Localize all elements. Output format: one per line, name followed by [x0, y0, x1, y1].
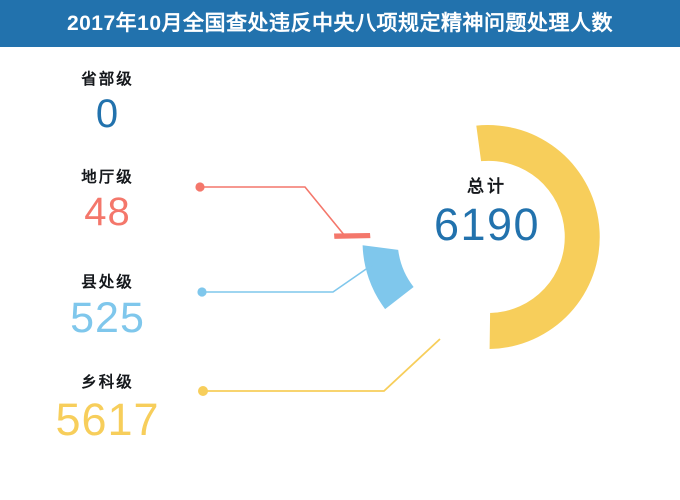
legend-value-provincial: 0 — [0, 94, 215, 134]
legend-list: 省部级 0 地厅级 48 县处级 525 乡科级 5617 — [0, 47, 215, 500]
donut-center-text: 总计 6190 — [407, 178, 567, 247]
legend-item-provincial: 省部级 0 — [0, 72, 215, 134]
donut-slice-county — [363, 245, 414, 309]
infographic-root: 2017年10月全国查处违反中央八项规定精神问题处理人数 省部级 0 地厅级 4… — [0, 0, 680, 500]
legend-item-township: 乡科级 5617 — [0, 375, 215, 442]
legend-label-county: 县处级 — [0, 275, 215, 291]
total-value: 6190 — [407, 202, 567, 247]
legend-label-township: 乡科级 — [0, 375, 215, 391]
leader-line-prefectural — [201, 187, 345, 236]
leader-line-township — [205, 339, 440, 391]
legend-value-county: 525 — [0, 297, 215, 340]
leader-line-county — [204, 265, 372, 292]
legend-item-county: 县处级 525 — [0, 275, 215, 340]
page-title: 2017年10月全国查处违反中央八项规定精神问题处理人数 — [67, 13, 613, 34]
legend-label-provincial: 省部级 — [0, 72, 215, 88]
legend-item-prefectural: 地厅级 48 — [0, 170, 215, 232]
total-label: 总计 — [407, 178, 567, 195]
donut-slice-prefectural — [334, 233, 370, 239]
legend-value-township: 5617 — [0, 397, 215, 442]
legend-label-prefectural: 地厅级 — [0, 170, 215, 186]
legend-value-prefectural: 48 — [0, 192, 215, 232]
title-bar: 2017年10月全国查处违反中央八项规定精神问题处理人数 — [0, 0, 680, 47]
